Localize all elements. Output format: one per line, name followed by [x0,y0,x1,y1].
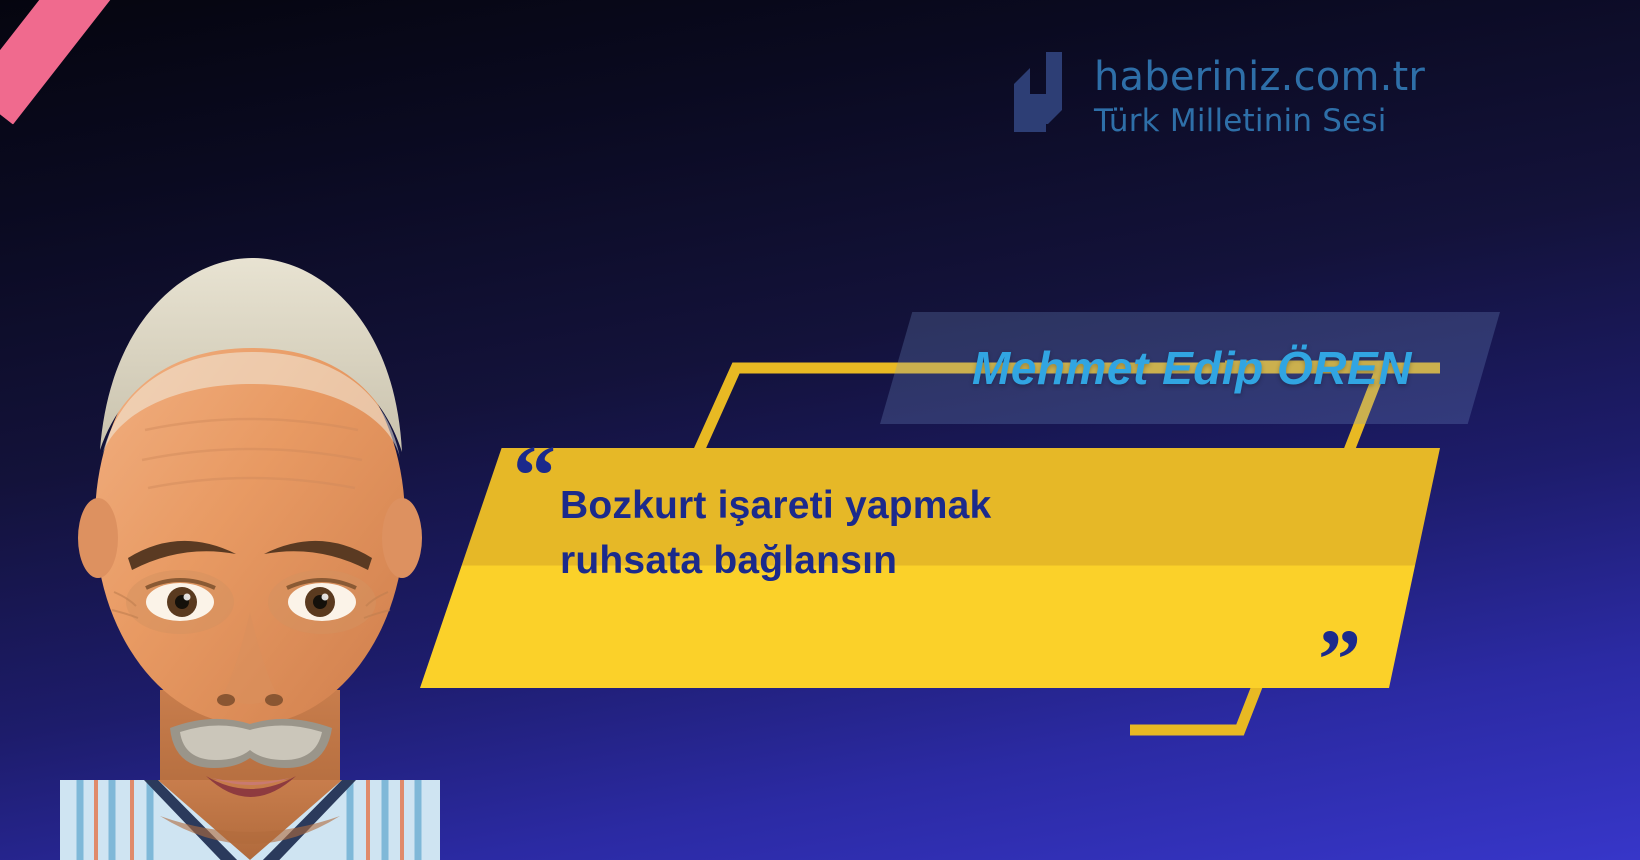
quote-line-1: Bozkurt işareti yapmak [560,478,1320,533]
quote-line-2: ruhsata bağlansın [560,533,1320,588]
quote-close-mark: ” [1318,616,1361,702]
site-name: haberiniz.com.tr [1094,57,1425,97]
quote-headline: Bozkurt işareti yapmak ruhsata bağlansın [560,478,1320,589]
author-name: Mehmet Edip ÖREN [972,341,1412,395]
h-monogram-icon [1000,48,1076,146]
stripe-pink-short [0,0,216,125]
site-tagline: Türk Milletinin Sesi [1094,106,1425,137]
poster-canvas: Mehmet Edip ÖREN “ Bozkurt işareti yapma… [0,0,1640,860]
portrait-photo [40,220,460,860]
logo-text-group: haberiniz.com.tr Türk Milletinin Sesi [1094,57,1425,137]
quote-open-mark: “ [513,432,556,518]
author-name-banner: Mehmet Edip ÖREN [880,312,1500,424]
site-logo[interactable]: haberiniz.com.tr Türk Milletinin Sesi [1000,48,1425,146]
